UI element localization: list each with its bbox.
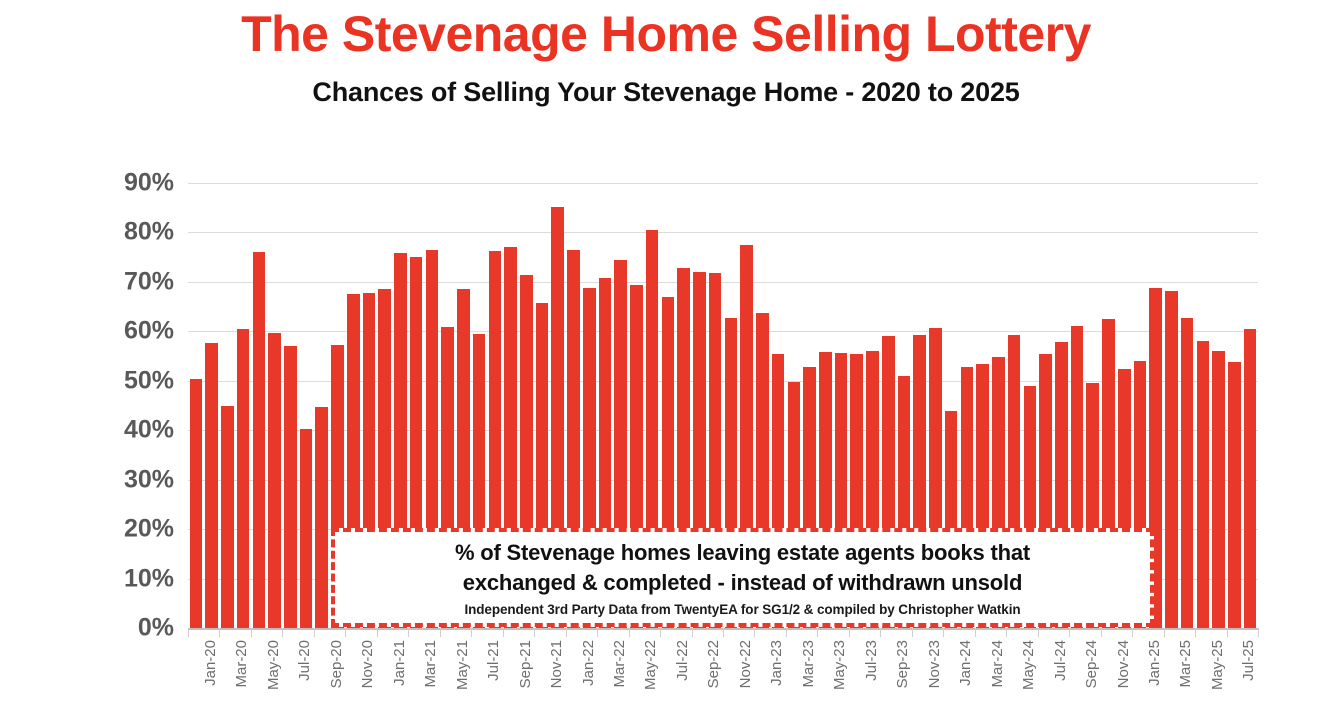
x-axis-tick — [723, 628, 724, 637]
y-axis-tick-label: 0% — [138, 614, 174, 643]
x-axis-tick — [817, 628, 818, 637]
x-axis-tick-label: Sep-23 — [894, 640, 911, 688]
x-axis-tick-label: May-20 — [265, 640, 282, 690]
x-axis-tick-label: Jul-20 — [296, 640, 313, 681]
bar[interactable] — [268, 333, 281, 628]
page-subtitle: Chances of Selling Your Stevenage Home -… — [0, 78, 1332, 108]
bar[interactable] — [221, 406, 234, 628]
y-axis-tick-label: 70% — [124, 267, 174, 296]
x-axis-tick — [219, 628, 220, 637]
page-title: The Stevenage Home Selling Lottery — [0, 8, 1332, 61]
x-axis-tick — [597, 628, 598, 637]
bar[interactable] — [253, 252, 266, 628]
x-axis-tick-label: Nov-24 — [1115, 640, 1132, 688]
bar[interactable] — [1228, 362, 1241, 628]
x-axis-tick — [786, 628, 787, 637]
x-axis-tick-label: Nov-23 — [926, 640, 943, 688]
x-axis-tick — [1227, 628, 1228, 637]
x-axis-tick-label: Sep-21 — [517, 640, 534, 688]
x-axis-tick-label: Mar-25 — [1177, 640, 1194, 688]
x-axis-tick — [251, 628, 252, 637]
x-axis-tick-label: May-23 — [831, 640, 848, 690]
x-axis-tick — [1069, 628, 1070, 637]
x-axis-tick-label: Mar-23 — [800, 640, 817, 688]
x-axis-tick — [1101, 628, 1102, 637]
x-axis-tick — [1038, 628, 1039, 637]
x-axis-ticks — [188, 628, 1258, 638]
x-axis-tick — [471, 628, 472, 637]
x-axis-tick — [566, 628, 567, 637]
x-axis-tick-label: Jul-21 — [485, 640, 502, 681]
x-axis-tick-label: May-22 — [642, 640, 659, 690]
x-axis-tick — [440, 628, 441, 637]
x-axis-tick — [408, 628, 409, 637]
x-axis-tick — [282, 628, 283, 637]
caption-line-2: exchanged & completed - instead of withd… — [463, 568, 1022, 598]
x-axis-tick — [754, 628, 755, 637]
x-axis-tick-label: Sep-24 — [1083, 640, 1100, 688]
x-axis-tick — [975, 628, 976, 637]
x-axis-tick — [377, 628, 378, 637]
bar[interactable] — [1197, 341, 1210, 628]
bar[interactable] — [284, 346, 297, 628]
y-axis-labels: 0%10%20%30%40%50%60%70%80%90% — [0, 0, 188, 722]
x-axis-tick — [660, 628, 661, 637]
x-axis-tick — [345, 628, 346, 637]
bar[interactable] — [1181, 318, 1194, 629]
x-axis-tick-label: Sep-20 — [328, 640, 345, 688]
x-axis-tick-label: Jul-25 — [1240, 640, 1257, 681]
y-axis-tick-label: 60% — [124, 317, 174, 346]
bar[interactable] — [315, 407, 328, 629]
x-axis-tick — [314, 628, 315, 637]
x-axis-tick — [1195, 628, 1196, 637]
y-axis-tick-label: 50% — [124, 366, 174, 395]
x-axis-tick — [692, 628, 693, 637]
y-axis-tick-label: 40% — [124, 416, 174, 445]
x-axis-tick — [849, 628, 850, 637]
x-axis-tick-label: Nov-20 — [359, 640, 376, 688]
x-axis-tick — [912, 628, 913, 637]
x-axis-tick-label: Jan-24 — [957, 640, 974, 686]
caption-box: % of Stevenage homes leaving estate agen… — [331, 528, 1154, 627]
bar[interactable] — [1165, 291, 1178, 628]
x-axis-tick-label: Mar-21 — [422, 640, 439, 688]
x-axis-tick — [629, 628, 630, 637]
y-axis-tick-label: 20% — [124, 515, 174, 544]
y-axis-tick-label: 30% — [124, 465, 174, 494]
bar[interactable] — [237, 329, 250, 628]
x-axis-tick-label: Jan-23 — [768, 640, 785, 686]
x-axis-tick — [1132, 628, 1133, 637]
x-axis-tick — [534, 628, 535, 637]
bar[interactable] — [1244, 329, 1257, 628]
x-axis-tick-label: Jul-22 — [674, 640, 691, 681]
x-axis-tick-label: Sep-22 — [705, 640, 722, 688]
x-axis-tick-label: Jan-20 — [202, 640, 219, 686]
x-axis-tick — [188, 628, 189, 637]
x-axis-tick-label: Mar-20 — [233, 640, 250, 688]
x-axis-tick-label: Jan-21 — [391, 640, 408, 686]
x-axis-tick — [880, 628, 881, 637]
x-axis-tick-label: Mar-22 — [611, 640, 628, 688]
x-axis-tick — [943, 628, 944, 637]
x-axis-tick — [1164, 628, 1165, 637]
x-axis-tick-label: Mar-24 — [989, 640, 1006, 688]
x-axis-tick-label: Jan-25 — [1146, 640, 1163, 686]
caption-source: Independent 3rd Party Data from TwentyEA… — [464, 602, 1020, 617]
x-axis-tick-label: May-21 — [454, 640, 471, 690]
y-axis-tick-label: 90% — [124, 169, 174, 198]
x-axis-tick-label: Nov-21 — [548, 640, 565, 688]
x-axis-tick-label: May-24 — [1020, 640, 1037, 690]
bar[interactable] — [300, 429, 313, 628]
bar[interactable] — [1212, 351, 1225, 628]
y-axis-tick-label: 80% — [124, 218, 174, 247]
x-axis-tick-label: May-25 — [1209, 640, 1226, 690]
x-axis-tick-label: Jul-24 — [1052, 640, 1069, 681]
y-axis-tick-label: 10% — [124, 564, 174, 593]
x-axis-tick-label: Nov-22 — [737, 640, 754, 688]
caption-line-1: % of Stevenage homes leaving estate agen… — [455, 538, 1030, 568]
x-axis-tick — [1006, 628, 1007, 637]
x-axis-tick — [503, 628, 504, 637]
bar[interactable] — [205, 343, 218, 628]
x-axis-tick-label: Jul-23 — [863, 640, 880, 681]
bar[interactable] — [190, 379, 203, 628]
x-axis-tick — [1258, 628, 1259, 637]
chart-container: The Stevenage Home Selling Lottery Chanc… — [0, 0, 1332, 722]
x-axis-tick-label: Jan-22 — [580, 640, 597, 686]
